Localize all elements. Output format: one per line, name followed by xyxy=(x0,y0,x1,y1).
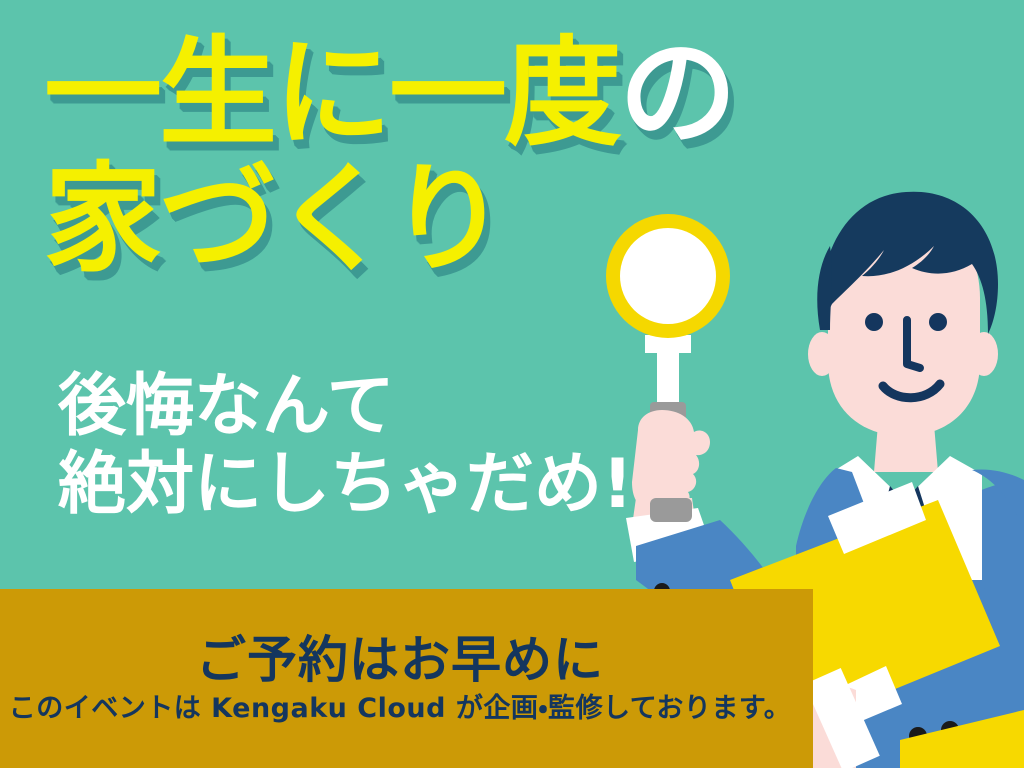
subheadline-line-1: 後悔なんて xyxy=(58,368,633,446)
footer-headline: ご予約はお早めに xyxy=(0,620,800,692)
magnifying-glass-icon xyxy=(606,214,730,424)
footer-caption: このイベントは Kengaku Cloud が企画・監修しております。 xyxy=(0,686,800,725)
headline-line-1-main: 一生に一度 xyxy=(44,24,619,162)
headline-line-1-accent: の xyxy=(619,24,734,162)
eye-right xyxy=(929,313,947,331)
headline-line-1: 一生に一度の xyxy=(44,34,734,152)
subheadline: 後悔なんて 絶対にしちゃだめ! xyxy=(58,368,633,523)
event-banner: 一生に一度の 家づくり 後悔なんて 絶対にしちゃだめ! xyxy=(0,0,1024,768)
eye-left xyxy=(865,313,883,331)
subheadline-line-2: 絶対にしちゃだめ! xyxy=(58,446,633,524)
